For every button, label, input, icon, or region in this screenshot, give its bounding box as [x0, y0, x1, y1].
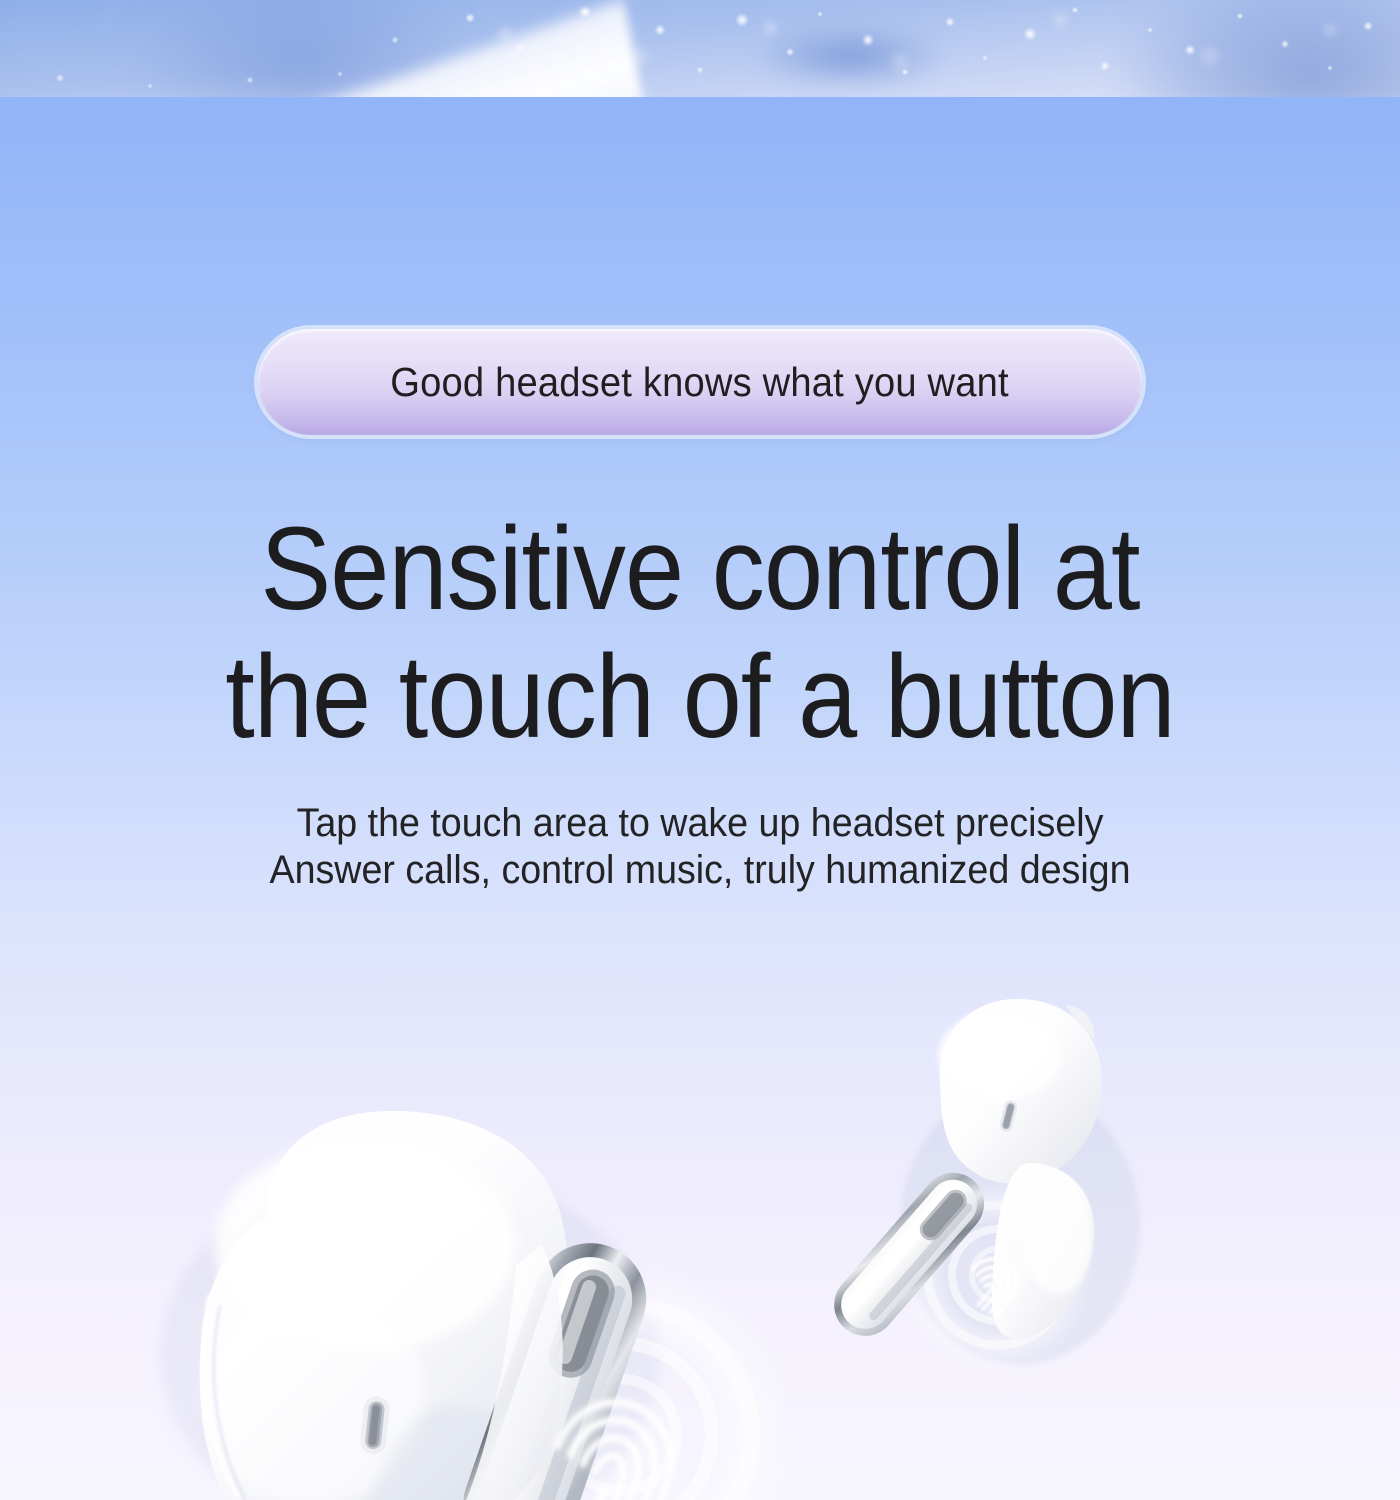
product-banner-stage: Good headset knows what you want Sensiti… [0, 0, 1400, 1500]
left-earbud [150, 1105, 790, 1500]
right-earbud [880, 985, 1210, 1385]
product-image-earbuds [0, 0, 1400, 1500]
